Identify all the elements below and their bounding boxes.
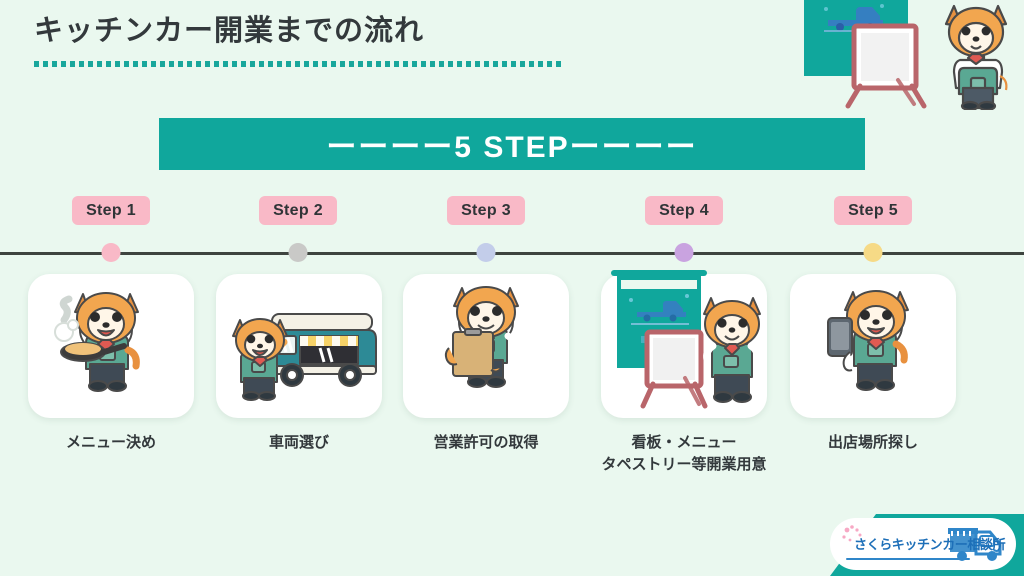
step-caption-5: 出店場所探し (773, 432, 973, 454)
a-frame-signboard-icon (840, 20, 932, 110)
title-block: キッチンカー開業までの流れ (34, 14, 574, 67)
step-caption-4: 看板・メニュー タペストリー等開業用意 (584, 432, 784, 476)
step-badge-4[interactable]: Step 4 (645, 196, 723, 225)
step-badge-3-label: Step 3 (461, 202, 511, 220)
step-badge-1[interactable]: Step 1 (72, 196, 150, 225)
five-step-banner-label: ーーーー5 STEPーーーー (326, 122, 697, 166)
step-card-1-inner (28, 274, 194, 418)
step-dot-1 (102, 243, 121, 262)
logo-underline (846, 558, 970, 560)
hero-illustration (794, 0, 1024, 112)
step-dot-3 (477, 243, 496, 262)
step-card-5-inner (790, 274, 956, 418)
step-badge-5[interactable]: Step 5 (834, 196, 912, 225)
step-marker-3: Step 3 (394, 196, 578, 225)
shiba-with-frying-pan-icon (28, 274, 194, 418)
title-dotted-underline (34, 61, 562, 67)
step-card-2[interactable] (216, 274, 382, 418)
step-marker-4: Step 4 (592, 196, 776, 225)
step-caption-1: メニュー決め (11, 432, 211, 454)
step-badge-2[interactable]: Step 2 (259, 196, 337, 225)
logo-text: さくらキッチンカー相談所 (854, 534, 1005, 553)
step-caption-2: 車両選び (199, 432, 399, 454)
shiba-with-signboard-icon (601, 250, 767, 418)
step-badge-3[interactable]: Step 3 (447, 196, 525, 225)
logo-badge[interactable]: さくらキッチンカー相談所 (830, 518, 1016, 570)
step-card-2-inner (216, 274, 382, 418)
step-caption-3: 営業許可の取得 (386, 432, 586, 454)
logo-corner: さくらキッチンカー相談所 (784, 500, 1024, 576)
step-marker-2: Step 2 (206, 196, 390, 225)
step-marker-1: Step 1 (19, 196, 203, 225)
shiba-with-food-truck-icon (216, 274, 382, 418)
page-title: キッチンカー開業までの流れ (34, 14, 574, 49)
step-card-4[interactable] (601, 274, 767, 418)
step-badge-5-label: Step 5 (848, 202, 898, 220)
step-badge-2-label: Step 2 (273, 202, 323, 220)
step-card-3-inner (403, 274, 569, 418)
step-dot-5 (864, 243, 883, 262)
step-card-5[interactable] (790, 274, 956, 418)
step-card-3[interactable] (403, 274, 569, 418)
shiba-mascot-icon (930, 2, 1022, 110)
step-badge-1-label: Step 1 (86, 202, 136, 220)
step-marker-5: Step 5 (781, 196, 965, 225)
five-step-banner: ーーーー5 STEPーーーー (159, 118, 865, 170)
step-dot-2 (289, 243, 308, 262)
step-badge-4-label: Step 4 (659, 202, 709, 220)
shiba-with-clipboard-icon (403, 274, 569, 418)
step-card-1[interactable] (28, 274, 194, 418)
shiba-with-smartphone-icon (790, 274, 956, 418)
